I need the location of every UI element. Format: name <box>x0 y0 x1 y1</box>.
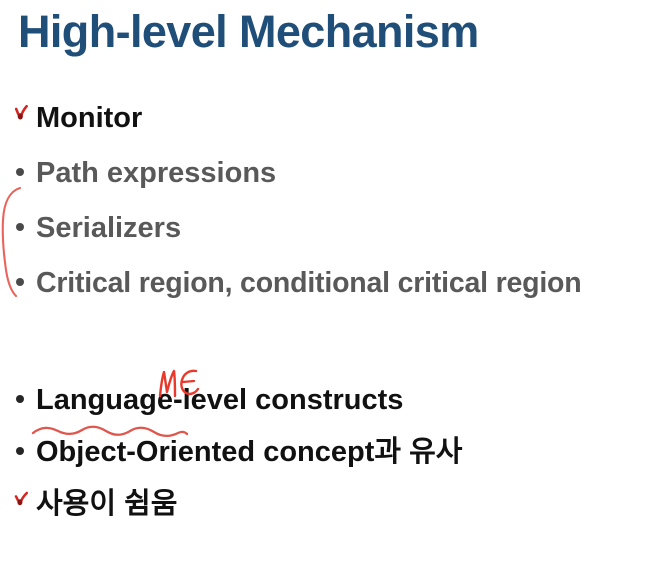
list-item-label: Object-Oriented concept과 유사 <box>36 438 462 467</box>
list-item-label: 사용이 쉼움 <box>36 490 177 519</box>
red-check-icon <box>14 493 36 518</box>
list-item-label: Critical region, conditional critical re… <box>36 269 581 298</box>
list-item-label: Serializers <box>36 214 181 243</box>
language-level-list: Language-level constructs Object-Oriente… <box>0 386 665 542</box>
bullet-dot-icon <box>14 448 36 466</box>
list-item-label: Language-level constructs <box>36 386 403 415</box>
slide-canvas: High-level Mechanism Monitor Path expres… <box>0 0 665 585</box>
list-item: Language-level constructs <box>0 386 665 438</box>
list-item: Object-Oriented concept과 유사 <box>0 438 665 490</box>
list-item: Monitor <box>0 104 665 159</box>
red-check-icon <box>14 107 36 132</box>
list-item: Serializers <box>0 214 665 269</box>
list-item: 사용이 쉼움 <box>0 490 665 542</box>
list-item: Critical region, conditional critical re… <box>0 269 665 324</box>
list-item-label: Path expressions <box>36 159 276 188</box>
bullet-dot-icon <box>14 396 36 414</box>
high-level-mechanism-list: Monitor Path expressions Serializers Cri… <box>0 104 665 324</box>
list-item-label: Monitor <box>36 104 142 133</box>
bullet-dot-icon <box>14 169 36 187</box>
page-title: High-level Mechanism <box>18 8 479 55</box>
bullet-dot-icon <box>14 224 36 242</box>
list-item: Path expressions <box>0 159 665 214</box>
bullet-dot-icon <box>14 279 36 297</box>
